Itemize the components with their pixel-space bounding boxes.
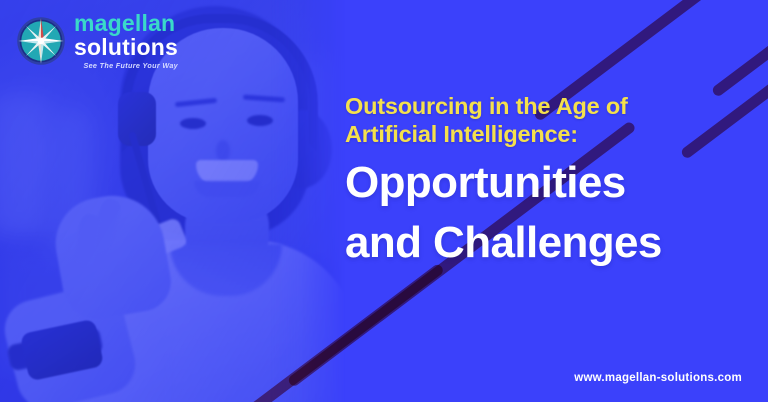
logo-wordmark: magellan solutions See The Future Your W… <box>74 12 178 69</box>
headline-kicker-line1: Outsourcing in the Age of <box>345 92 757 120</box>
website-url[interactable]: www.magellan-solutions.com <box>574 372 742 384</box>
compass-rose-icon <box>14 14 68 68</box>
headline-block: Outsourcing in the Age of Artificial Int… <box>345 92 757 267</box>
logo-word-solutions: solutions <box>74 36 178 59</box>
magellan-solutions-logo[interactable]: magellan solutions See The Future Your W… <box>14 12 178 69</box>
logo-word-magellan: magellan <box>74 12 178 35</box>
blog-banner: magellan solutions See The Future Your W… <box>0 0 768 402</box>
logo-tagline: See The Future Your Way <box>74 62 178 69</box>
headline-title-line2: and Challenges <box>345 218 757 267</box>
headline-title-line1: Opportunities <box>345 158 757 207</box>
headline-kicker-line2: Artificial Intelligence: <box>345 120 757 148</box>
diagonal-stripe <box>711 34 768 98</box>
